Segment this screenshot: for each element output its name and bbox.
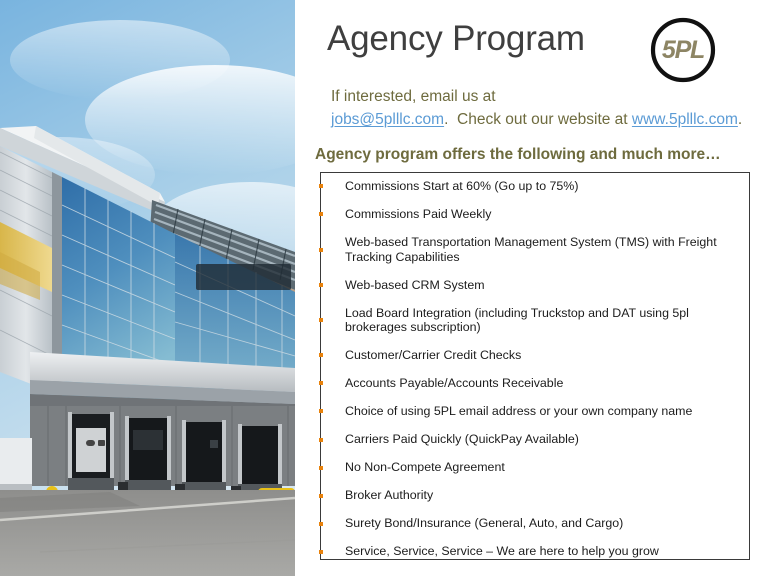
bullet-square-icon — [319, 409, 323, 413]
list-item-label: Load Board Integration (including Trucks… — [345, 306, 735, 335]
bullet-square-icon — [319, 381, 323, 385]
list-item: No Non-Compete Agreement — [321, 460, 749, 475]
list-item: Load Board Integration (including Trucks… — [321, 306, 749, 335]
bullet-square-icon — [319, 283, 323, 287]
slide-root: Agency Program 5PL If interested, email … — [0, 0, 768, 576]
bullet-square-icon — [319, 248, 323, 252]
website-link[interactable]: www.5plllc.com — [632, 111, 738, 128]
email-link[interactable]: jobs@5plllc.com — [331, 111, 444, 128]
bullet-square-icon — [319, 353, 323, 357]
svg-text:5PL: 5PL — [662, 36, 704, 64]
bullet-square-icon — [319, 212, 323, 216]
bullet-square-icon — [319, 184, 323, 188]
list-item: Customer/Carrier Credit Checks — [321, 348, 749, 363]
list-item: Service, Service, Service – We are here … — [321, 544, 749, 559]
list-item-label: Commissions Start at 60% (Go up to 75%) — [345, 179, 578, 194]
bullet-square-icon — [319, 318, 323, 322]
intro-middle-text: . Check out our website at — [444, 111, 632, 128]
contact-paragraph: If interested, email us at jobs@5plllc.c… — [331, 86, 751, 132]
benefits-box: Commissions Start at 60% (Go up to 75%) … — [320, 172, 750, 560]
list-item-label: Service, Service, Service – We are here … — [345, 544, 659, 559]
benefits-list: Commissions Start at 60% (Go up to 75%) … — [321, 173, 749, 559]
warehouse-loading-dock-photo — [0, 0, 295, 576]
intro-lead-text: If interested, email us at — [331, 88, 496, 105]
list-item-label: Carriers Paid Quickly (QuickPay Availabl… — [345, 432, 579, 447]
list-item-label: Accounts Payable/Accounts Receivable — [345, 376, 563, 391]
section-subheading: Agency program offers the following and … — [315, 146, 721, 164]
bullet-square-icon — [319, 550, 323, 554]
list-item: Carriers Paid Quickly (QuickPay Availabl… — [321, 432, 749, 447]
list-item-label: Web-based Transportation Management Syst… — [345, 235, 735, 264]
list-item-label: No Non-Compete Agreement — [345, 460, 505, 475]
list-item: Choice of using 5PL email address or you… — [321, 404, 749, 419]
list-item: Web-based Transportation Management Syst… — [321, 235, 749, 264]
list-item: Commissions Start at 60% (Go up to 75%) — [321, 179, 749, 194]
list-item-label: Choice of using 5PL email address or you… — [345, 404, 692, 419]
page-title: Agency Program — [327, 20, 585, 59]
list-item-label: Customer/Carrier Credit Checks — [345, 348, 521, 363]
list-item-label: Commissions Paid Weekly — [345, 207, 491, 222]
list-item-label: Broker Authority — [345, 488, 433, 503]
list-item: Surety Bond/Insurance (General, Auto, an… — [321, 516, 749, 531]
bullet-square-icon — [319, 522, 323, 526]
intro-tail-text: . — [738, 111, 742, 128]
5pl-logo: 5PL — [647, 14, 719, 86]
list-item-label: Surety Bond/Insurance (General, Auto, an… — [345, 516, 623, 531]
list-item: Commissions Paid Weekly — [321, 207, 749, 222]
list-item: Web-based CRM System — [321, 278, 749, 293]
bullet-square-icon — [319, 466, 323, 470]
bullet-square-icon — [319, 494, 323, 498]
bullet-square-icon — [319, 438, 323, 442]
list-item: Broker Authority — [321, 488, 749, 503]
list-item-label: Web-based CRM System — [345, 278, 485, 293]
content-column: Agency Program 5PL If interested, email … — [310, 0, 768, 576]
list-item: Accounts Payable/Accounts Receivable — [321, 376, 749, 391]
